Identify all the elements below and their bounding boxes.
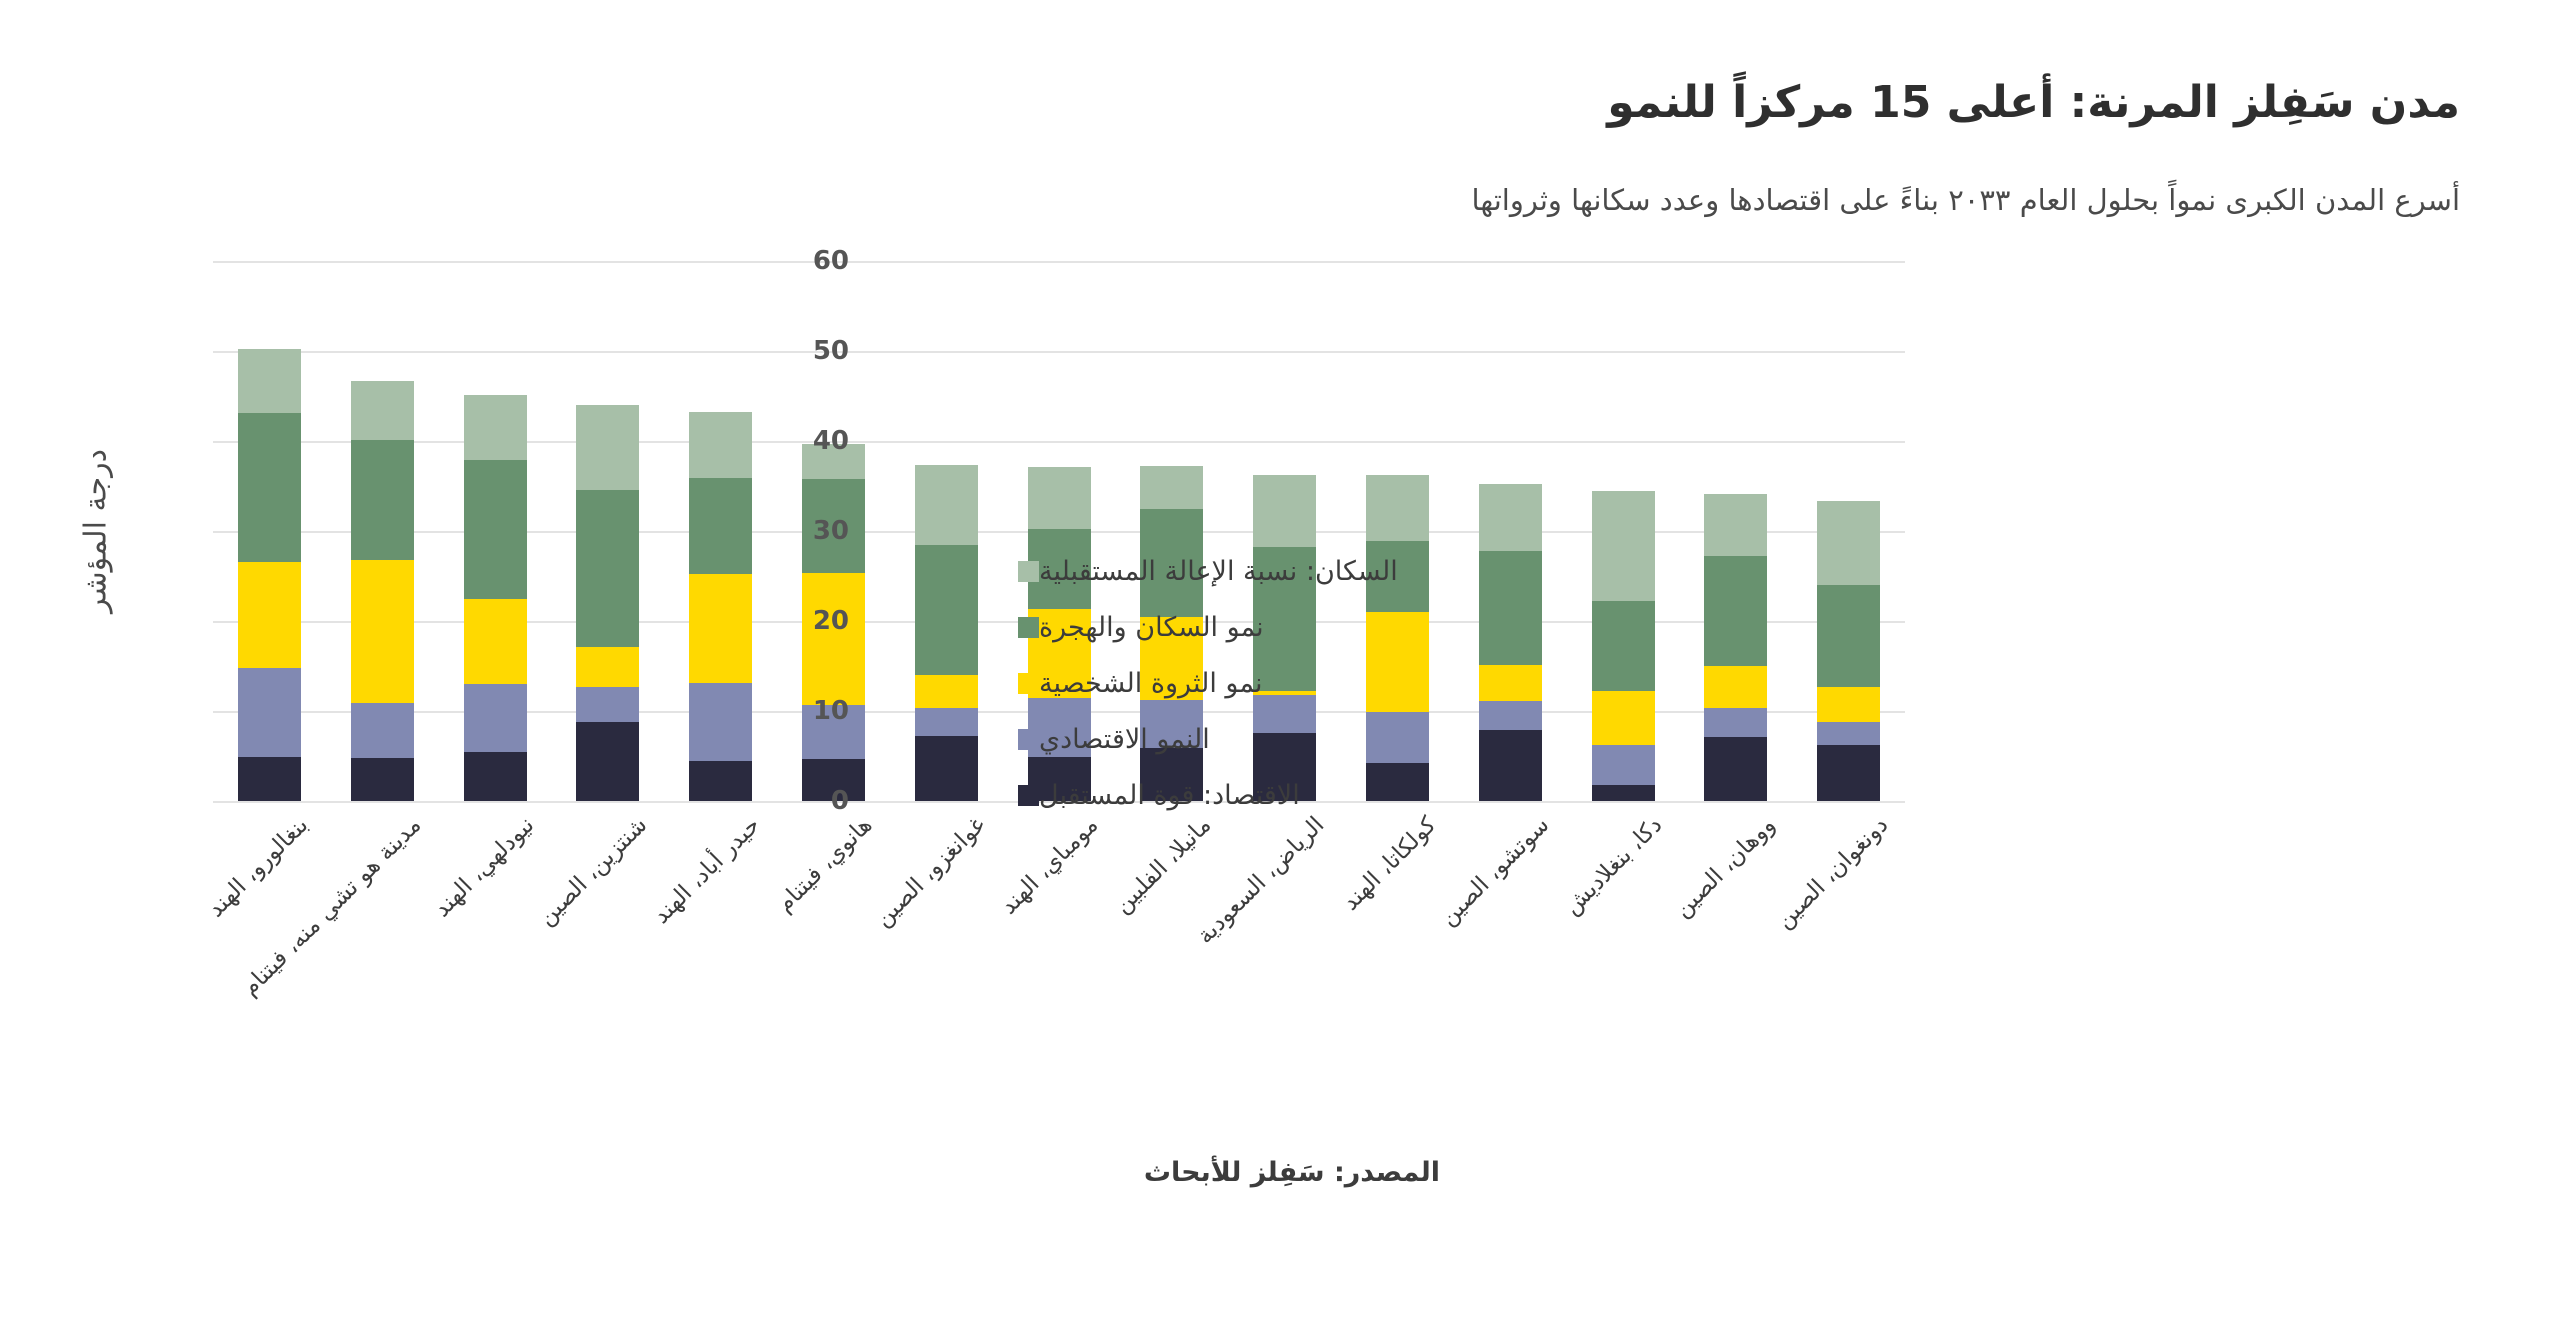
bar-segment[interactable] [576,405,639,490]
bar-segment[interactable] [464,684,527,752]
x-tick-label: مومباي، الهند [996,812,1104,920]
bar-segment[interactable] [576,687,639,722]
bar-segment[interactable] [351,758,414,801]
legend-swatch-icon [1018,729,1039,750]
bar-segment[interactable] [1592,745,1655,785]
bar-segment[interactable] [1704,556,1767,666]
bar-segment[interactable] [1817,501,1880,585]
legend-item-label: نمو السكان والهجرة [1039,612,1264,643]
bar-segment[interactable] [1592,691,1655,745]
legend-swatch-icon [1018,617,1039,638]
bar-segment[interactable] [238,562,301,668]
bar-column[interactable] [1704,261,1767,801]
x-tick-label: حيدر أباد، الهند [648,812,765,929]
bar-segment[interactable] [351,440,414,560]
bar-segment[interactable] [238,349,301,413]
bar-segment[interactable] [351,381,414,440]
bar-column[interactable] [1817,261,1880,801]
bar-column[interactable] [464,261,527,801]
x-tick-label: مانيلا، الفلبين [1109,812,1216,919]
source-note: المصدر: سَفِلز للأبحاث [1144,1157,1440,1188]
bar-segment[interactable] [1028,467,1091,529]
bar-segment[interactable] [351,703,414,758]
bar-segment[interactable] [238,668,301,757]
bar-segment[interactable] [1366,475,1429,541]
bar-segment[interactable] [1704,737,1767,801]
y-axis-label: درجة المؤشر [79,449,114,613]
bar-segment[interactable] [464,752,527,802]
x-tick-label: بنغالورو، الهند [203,812,314,923]
bar-segment[interactable] [915,465,978,544]
x-tick-label: نيودلهي، الهند [429,812,539,922]
chart-legend: السكان: نسبة الإعالة المستقبليةنمو السكا… [1000,543,1470,823]
y-tick-label-10: 10 [729,696,849,726]
legend-swatch-icon [1018,673,1039,694]
bar-column[interactable] [238,261,301,801]
bar-segment[interactable] [238,757,301,801]
bar-segment[interactable] [915,675,978,708]
legend-swatch-icon [1018,785,1039,806]
chart-canvas: مدن سَفِلز المرنة: أعلى 15 مركزاً للنمو … [0,0,2560,1331]
bar-segment[interactable] [1140,466,1203,508]
chart-subtitle: أسرع المدن الكبرى نمواً بحلول العام ٢٠٣٣… [100,183,2460,218]
bar-segment[interactable] [915,736,978,801]
x-tick-label: هانوي، فيتنام [772,812,878,918]
bar-segment[interactable] [1817,585,1880,687]
bar-segment[interactable] [1817,722,1880,745]
bar-column[interactable] [351,261,414,801]
bar-segment[interactable] [1479,730,1542,801]
y-tick-label-60: 60 [729,246,849,276]
bar-segment[interactable] [915,545,978,676]
x-tick-label: سوتشو، الصين [1435,812,1554,931]
bar-segment[interactable] [464,395,527,460]
bar-segment[interactable] [1592,601,1655,691]
bar-segment[interactable] [1817,745,1880,801]
bar-column[interactable] [1592,261,1655,801]
bar-segment[interactable] [915,708,978,736]
bar-segment[interactable] [1253,475,1316,547]
bar-segment[interactable] [1479,551,1542,665]
bar-segment[interactable] [802,573,865,704]
legend-item-label: السكان: نسبة الإعالة المستقبلية [1039,556,1398,587]
bar-column[interactable] [576,261,639,801]
x-tick-label: ووهان، الصين [1669,812,1780,923]
legend-item[interactable]: النمو الاقتصادي [1000,711,1470,767]
legend-item-label: نمو الثروة الشخصية [1039,668,1262,699]
legend-swatch-icon [1018,561,1039,582]
chart-title: مدن سَفِلز المرنة: أعلى 15 مركزاً للنمو [100,78,2460,129]
x-tick-label: غوانغزو، الصين [870,812,990,932]
y-tick-label-50: 50 [729,336,849,366]
bar-segment[interactable] [351,560,414,703]
bar-column[interactable] [915,261,978,801]
bar-segment[interactable] [1704,666,1767,708]
bar-segment[interactable] [1479,484,1542,551]
x-tick-label: دكا، بنغلاديش [1559,812,1667,920]
bar-segment[interactable] [1817,687,1880,722]
x-tick-label: كولكاتا، الهند [1338,812,1442,916]
legend-item[interactable]: الاقتصاد: قوة المستقبل [1000,767,1470,823]
bar-segment[interactable] [1704,708,1767,737]
legend-item[interactable]: السكان: نسبة الإعالة المستقبلية [1000,543,1470,599]
bar-segment[interactable] [464,460,527,599]
bar-segment[interactable] [576,722,639,801]
bar-segment[interactable] [464,599,527,685]
bar-segment[interactable] [238,413,301,562]
bar-segment[interactable] [1592,785,1655,801]
y-tick-label-20: 20 [729,606,849,636]
x-tick-label: دونغوان، الصين [1771,812,1893,934]
bar-column[interactable] [1479,261,1542,801]
bar-segment[interactable] [576,490,639,648]
y-tick-label-30: 30 [729,516,849,546]
legend-item[interactable]: نمو السكان والهجرة [1000,599,1470,655]
legend-item-label: الاقتصاد: قوة المستقبل [1039,780,1300,811]
bar-segment[interactable] [1479,701,1542,730]
x-tick-label: شنتزين، الصين [533,812,652,931]
bar-segment[interactable] [1479,665,1542,701]
bar-segment[interactable] [1592,491,1655,601]
y-tick-label-40: 40 [729,426,849,456]
bar-segment[interactable] [576,647,639,687]
legend-item[interactable]: نمو الثروة الشخصية [1000,655,1470,711]
bar-segment[interactable] [1704,494,1767,556]
legend-item-label: النمو الاقتصادي [1039,724,1210,755]
